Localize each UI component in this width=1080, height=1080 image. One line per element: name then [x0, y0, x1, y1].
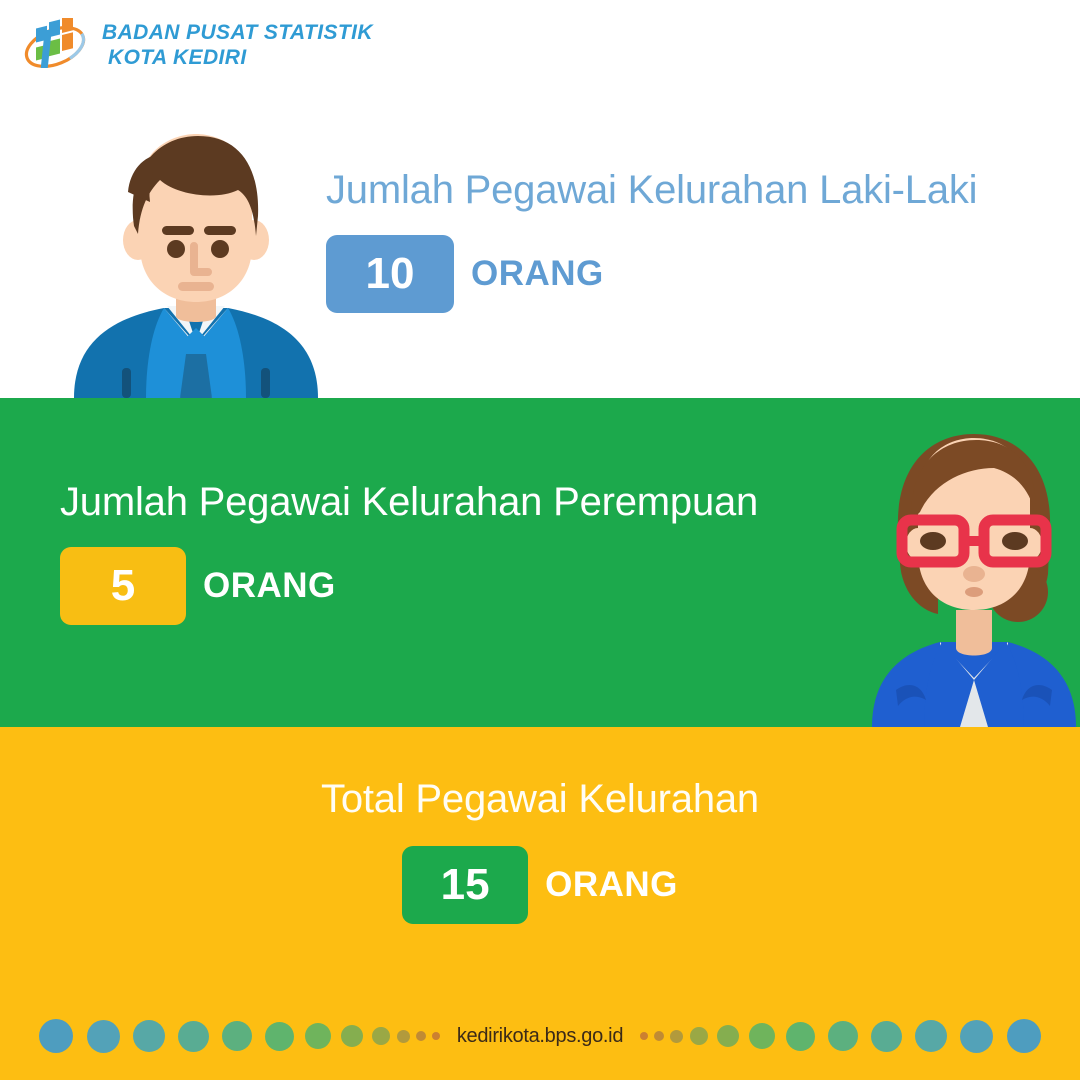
total-value-row: 15 ORANG [402, 846, 678, 924]
footer-bar: kedirikota.bps.go.id [0, 992, 1080, 1080]
footer-dot [432, 1032, 440, 1040]
footer-dot [372, 1027, 390, 1045]
infographic-page: BADAN PUSAT STATISTIK KOTA KEDIRI [0, 0, 1080, 1080]
footer-dot [640, 1032, 648, 1040]
footer-dot [416, 1031, 426, 1041]
male-value-row: 10 ORANG [326, 235, 977, 313]
female-title: Jumlah Pegawai Kelurahan Perempuan [60, 480, 758, 525]
total-unit-label: ORANG [545, 865, 678, 905]
footer-dot [178, 1021, 209, 1052]
footer-dot [749, 1023, 775, 1049]
female-unit-label: ORANG [203, 566, 336, 606]
footer-dot [717, 1025, 739, 1047]
total-stat-block: Total Pegawai Kelurahan 15 ORANG [0, 777, 1080, 924]
footer-dot [786, 1022, 815, 1051]
footer-dot [305, 1023, 331, 1049]
footer-dot [341, 1025, 363, 1047]
footer-dots-right [637, 1019, 1048, 1053]
female-officer-avatar-icon [868, 424, 1080, 727]
footer-dot [265, 1022, 294, 1051]
footer-dot [87, 1020, 120, 1053]
footer-dots-left [32, 1019, 443, 1053]
female-value-badge: 5 [60, 547, 186, 625]
section-total: Total Pegawai Kelurahan 15 ORANG kedirik… [0, 727, 1080, 1080]
org-name-line2: KOTA KEDIRI [102, 46, 373, 71]
org-name-line1: BADAN PUSAT STATISTIK [102, 21, 373, 46]
male-title: Jumlah Pegawai Kelurahan Laki-Laki [326, 168, 977, 213]
footer-dot [915, 1020, 947, 1052]
footer-dot [1007, 1019, 1041, 1053]
footer-dot [39, 1019, 73, 1053]
footer-dot [960, 1020, 993, 1053]
male-stat-block: Jumlah Pegawai Kelurahan Laki-Laki 10 OR… [326, 168, 977, 313]
section-male: BADAN PUSAT STATISTIK KOTA KEDIRI [0, 0, 1080, 398]
footer-url[interactable]: kedirikota.bps.go.id [443, 1025, 637, 1048]
total-title: Total Pegawai Kelurahan [321, 777, 759, 822]
male-unit-label: ORANG [471, 254, 604, 294]
footer-dot [690, 1027, 708, 1045]
footer-dot [222, 1021, 252, 1051]
footer-dot [828, 1021, 858, 1051]
female-value-row: 5 ORANG [60, 547, 758, 625]
male-value-badge: 10 [326, 235, 454, 313]
section-female: Jumlah Pegawai Kelurahan Perempuan 5 ORA… [0, 398, 1080, 727]
org-name: BADAN PUSAT STATISTIK KOTA KEDIRI [102, 21, 373, 71]
female-stat-block: Jumlah Pegawai Kelurahan Perempuan 5 ORA… [60, 480, 758, 625]
header-branding: BADAN PUSAT STATISTIK KOTA KEDIRI [22, 18, 373, 74]
footer-dot [397, 1030, 410, 1043]
footer-dot [871, 1021, 902, 1052]
footer-dot [670, 1030, 683, 1043]
footer-dot [133, 1020, 165, 1052]
bps-logo-icon [22, 18, 88, 74]
total-value-badge: 15 [402, 846, 528, 924]
footer-dot [654, 1031, 664, 1041]
male-officer-avatar-icon [68, 130, 324, 398]
